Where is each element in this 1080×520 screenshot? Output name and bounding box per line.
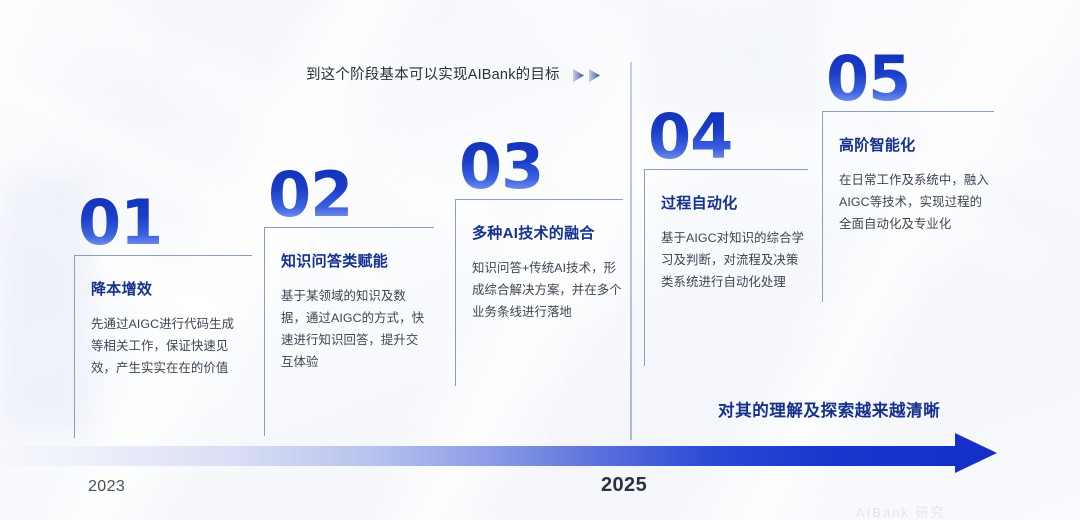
step-card-05[interactable]: 05 高阶智能化 在日常工作及系统中，融入AIGC等技术，实现过程的全面自动化及… bbox=[822, 52, 994, 302]
timeline-bar bbox=[0, 446, 962, 466]
right-arrow-icon bbox=[955, 433, 997, 473]
step-number: 05 bbox=[826, 52, 994, 107]
watermark-text: AIBank 研究 bbox=[856, 502, 946, 520]
step-description: 先通过AIGC进行代码生成等相关工作，保证快速见效，产生实实在在的价值 bbox=[91, 313, 243, 379]
step-card-content: 降本增效 先通过AIGC进行代码生成等相关工作，保证快速见效，产生实实在在的价值 bbox=[74, 255, 252, 438]
timeline-year-end: 2025 bbox=[601, 474, 647, 497]
step-description: 基于某领域的知识及数据，通过AIGC的方式，快速进行知识回答，提升交互体验 bbox=[281, 285, 429, 373]
step-card-03[interactable]: 03 多种AI技术的融合 知识问答+传统AI技术，形成综合解决方案，并在多个业务… bbox=[455, 140, 623, 386]
step-number: 04 bbox=[648, 110, 808, 165]
step-description: 知识问答+传统AI技术，形成综合解决方案，并在多个业务条线进行落地 bbox=[472, 257, 622, 323]
tagline-text: 对其的理解及探索越来越清晰 bbox=[718, 397, 940, 421]
step-card-02[interactable]: 02 知识问答类赋能 基于某领域的知识及数据，通过AIGC的方式，快速进行知识回… bbox=[264, 168, 434, 436]
step-card-content: 过程自动化 基于AIGC对知识的综合学习及判断，对流程及决策类系统进行自动化处理 bbox=[644, 169, 808, 366]
double-chevron-right-icon bbox=[572, 68, 601, 83]
step-description: 基于AIGC对知识的综合学习及判断，对流程及决策类系统进行自动化处理 bbox=[661, 227, 807, 293]
headline-text: 到这个阶段基本可以实现AIBank的目标 bbox=[306, 68, 560, 83]
timeline-year-start: 2023 bbox=[88, 478, 125, 496]
step-number: 01 bbox=[78, 196, 252, 251]
step-number: 03 bbox=[459, 140, 623, 195]
headline-banner: 到这个阶段基本可以实现AIBank的目标 bbox=[306, 62, 601, 88]
step-card-content: 知识问答类赋能 基于某领域的知识及数据，通过AIGC的方式，快速进行知识回答，提… bbox=[264, 227, 434, 436]
step-title: 过程自动化 bbox=[661, 192, 802, 213]
step-description: 在日常工作及系统中，融入AIGC等技术，实现过程的全面自动化及专业化 bbox=[839, 169, 989, 235]
vertical-divider bbox=[630, 62, 632, 440]
step-card-04[interactable]: 04 过程自动化 基于AIGC对知识的综合学习及判断，对流程及决策类系统进行自动… bbox=[644, 110, 808, 366]
step-title: 多种AI技术的融合 bbox=[472, 222, 617, 243]
step-title: 高阶智能化 bbox=[839, 134, 988, 155]
step-title: 降本增效 bbox=[91, 278, 246, 299]
step-card-01[interactable]: 01 降本增效 先通过AIGC进行代码生成等相关工作，保证快速见效，产生实实在在… bbox=[74, 196, 252, 438]
step-card-content: 多种AI技术的融合 知识问答+传统AI技术，形成综合解决方案，并在多个业务条线进… bbox=[455, 199, 623, 386]
step-title: 知识问答类赋能 bbox=[281, 250, 428, 271]
step-number: 02 bbox=[268, 168, 434, 223]
timeline-arrow bbox=[0, 440, 1080, 482]
slide-canvas: 到这个阶段基本可以实现AIBank的目标 01 降本增效 先通过AIGC进行代码 bbox=[0, 0, 1080, 520]
step-card-content: 高阶智能化 在日常工作及系统中，融入AIGC等技术，实现过程的全面自动化及专业化 bbox=[822, 111, 994, 302]
